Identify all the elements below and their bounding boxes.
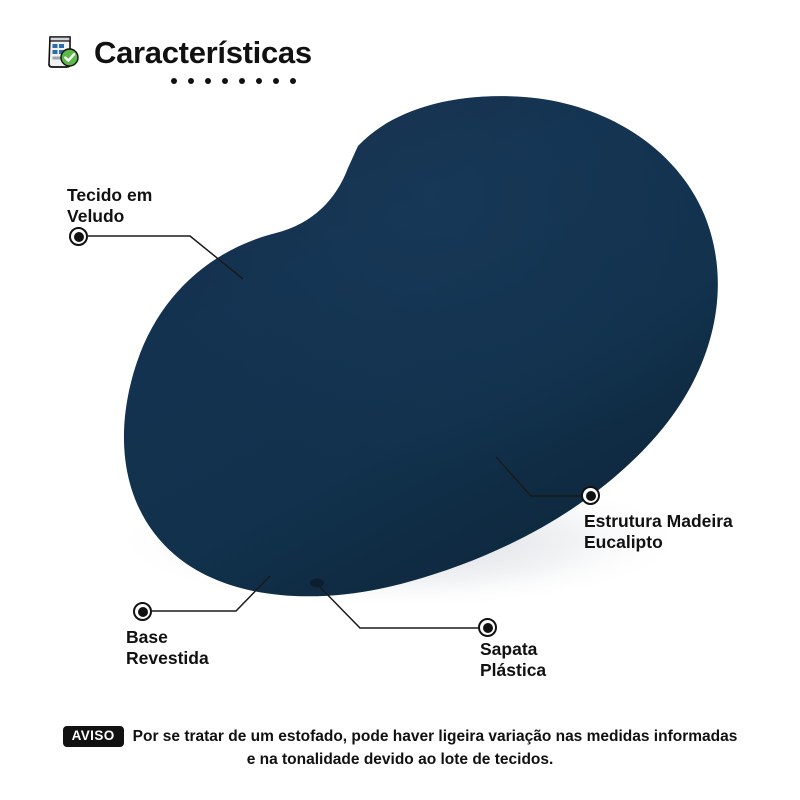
- title-separator-dot: [222, 78, 228, 84]
- title-dot-separator: [171, 78, 296, 84]
- callout-label-estrutura-madeira: Estrutura Madeira Eucalipto: [584, 511, 733, 552]
- product-illustration: [0, 0, 800, 800]
- callout-dot-base-revestida[interactable]: [133, 602, 152, 621]
- notice-first-line: AVISO Por se tratar de um estofado, pode…: [0, 725, 800, 748]
- callout-dot-tecido-veludo[interactable]: [69, 227, 88, 246]
- notice-badge: AVISO: [63, 726, 124, 747]
- infographic-page: Características: [0, 0, 800, 800]
- callout-label-tecido-veludo: Tecido em Veludo: [67, 185, 152, 226]
- title-separator-dot: [290, 78, 296, 84]
- title-separator-dot: [256, 78, 262, 84]
- callout-label-base-revestida: Base Revestida: [126, 627, 209, 668]
- callout-dot-sapata-plastica[interactable]: [478, 618, 497, 637]
- notice-text-line-2: e na tonalidade devido ao lote de tecido…: [0, 748, 800, 771]
- notice-text-line-1: Por se tratar de um estofado, pode haver…: [133, 725, 738, 748]
- callout-dot-estrutura-madeira[interactable]: [581, 486, 600, 505]
- title-separator-dot: [273, 78, 279, 84]
- title-separator-dot: [239, 78, 245, 84]
- page-header: Características: [46, 33, 312, 71]
- document-check-icon: [46, 33, 80, 71]
- leader-line-tecido-veludo: [88, 236, 243, 279]
- leader-line-estrutura-madeira: [496, 457, 581, 496]
- leader-line-sapata-plastica: [317, 584, 478, 628]
- title-separator-dot: [205, 78, 211, 84]
- callout-label-sapata-plastica: Sapata Plástica: [480, 639, 546, 680]
- notice-block: AVISO Por se tratar de um estofado, pode…: [0, 725, 800, 772]
- page-title: Características: [94, 37, 312, 68]
- leader-line-base-revestida: [152, 576, 270, 611]
- title-separator-dot: [171, 78, 177, 84]
- title-separator-dot: [188, 78, 194, 84]
- plastic-foot: [310, 579, 324, 588]
